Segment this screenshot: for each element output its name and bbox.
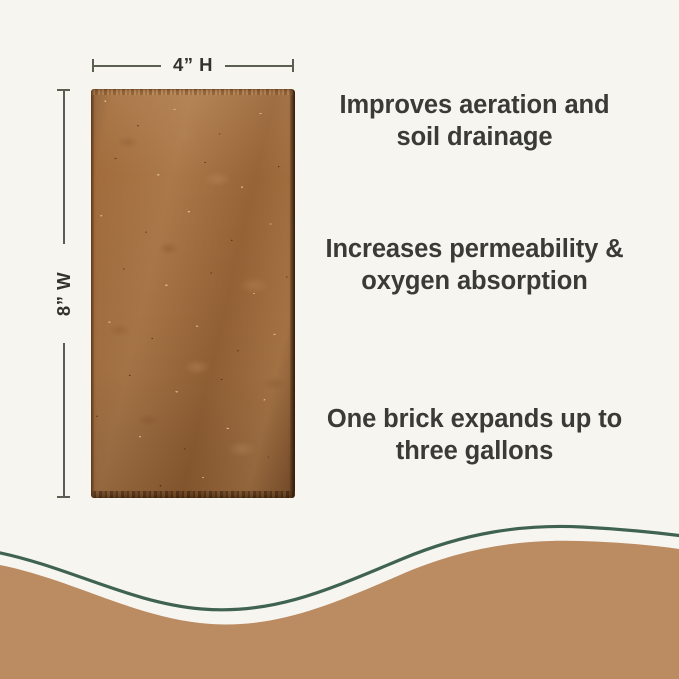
dimension-cap-bottom	[57, 496, 70, 498]
brick-bottom-edge	[91, 491, 295, 498]
feature-text-expansion: One brick expands up to three gallons	[322, 404, 627, 467]
feature-text-aeration: Improves aeration and soil drainage	[322, 90, 627, 153]
dimension-bar-top	[63, 90, 65, 244]
brick-top-edge	[91, 89, 295, 95]
soil-wave-fill	[0, 541, 679, 679]
dimension-label-width: 4” H	[166, 54, 220, 76]
dimension-bar-left	[93, 65, 161, 67]
dimension-line-vertical: 8” W	[56, 89, 72, 498]
dimension-bar-bottom	[63, 343, 65, 497]
coir-brick-image	[91, 89, 295, 498]
dimension-cap-right	[292, 59, 294, 72]
dimension-bar-right	[225, 65, 293, 67]
soil-wave-svg	[0, 519, 679, 679]
feature-text-permeability: Increases permeability & oxygen absorpti…	[322, 234, 627, 297]
dimension-label-height: 8” W	[50, 265, 78, 321]
brick-right-edge	[290, 89, 295, 498]
product-infographic: 4” H 8” W Improves aeration and soil dra…	[0, 0, 679, 679]
coir-brick-texture	[91, 89, 295, 498]
soil-wave-divider	[0, 519, 679, 679]
dimension-line-horizontal: 4” H	[92, 57, 294, 73]
brick-left-edge	[91, 89, 94, 498]
